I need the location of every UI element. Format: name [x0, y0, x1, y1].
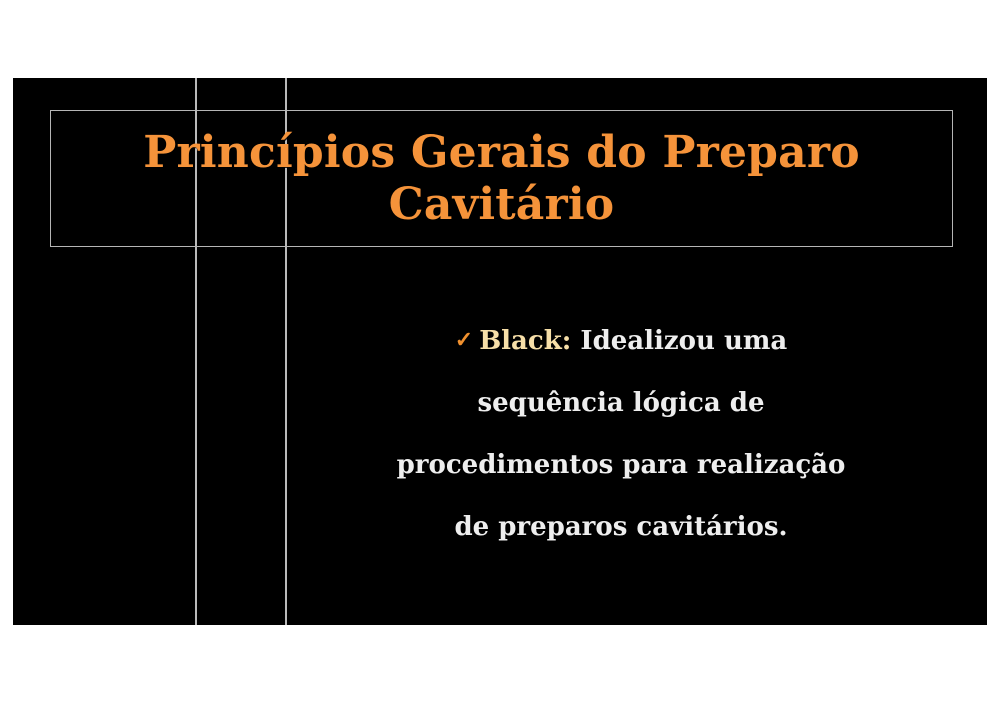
- bullet-item: ✓Black: Idealizou uma sequência lógica d…: [315, 309, 927, 558]
- title-line-2: Cavitário: [389, 179, 615, 230]
- bullet-text-line-1: ✓Black: Idealizou uma: [315, 309, 927, 372]
- bullet-line-4-text: de preparos cavitários.: [454, 512, 787, 542]
- checkmark-bullet-icon: ✓: [455, 309, 473, 371]
- bullet-text-line-2: sequência lógica de: [315, 372, 927, 434]
- presentation-slide: Princípios Gerais do Preparo Cavitário ✓…: [13, 78, 987, 625]
- bullet-text-line-4: de preparos cavitários.: [315, 496, 927, 558]
- bullet-line-1-text: Idealizou uma: [580, 326, 787, 356]
- bullet-text-line-3: procedimentos para realização: [315, 434, 927, 496]
- page-title: Princípios Gerais do Preparo Cavitário: [61, 127, 942, 231]
- title-line-1: Princípios Gerais do Preparo: [143, 127, 860, 178]
- bullet-line-2-text: sequência lógica de: [477, 388, 764, 418]
- bullet-line-3-text: procedimentos para realização: [397, 450, 846, 480]
- slide-page: Princípios Gerais do Preparo Cavitário ✓…: [0, 0, 1000, 707]
- content-body: ✓Black: Idealizou uma sequência lógica d…: [285, 247, 987, 625]
- bullet-keyword: Black:: [479, 326, 571, 356]
- title-box: Princípios Gerais do Preparo Cavitário: [50, 110, 953, 247]
